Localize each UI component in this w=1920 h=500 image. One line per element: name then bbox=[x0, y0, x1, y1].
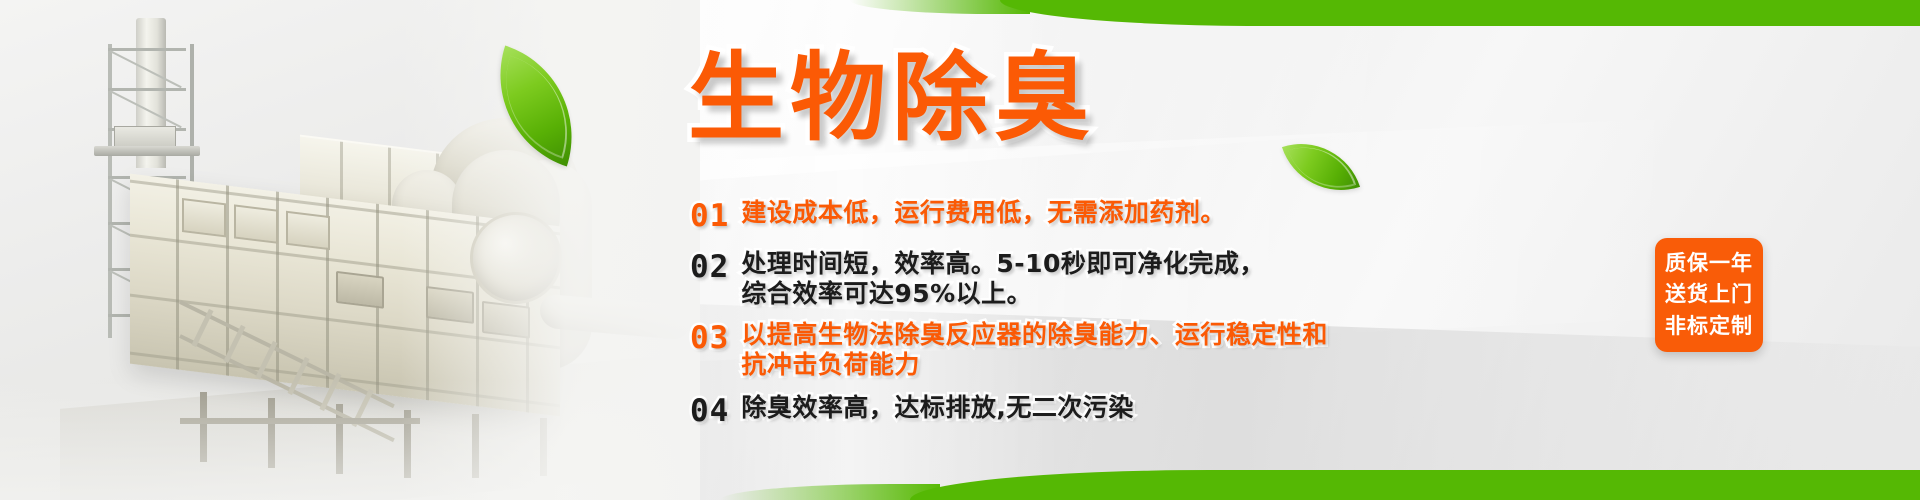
tower-rung bbox=[108, 48, 186, 51]
badge-line-warranty: 质保一年 bbox=[1665, 248, 1753, 279]
badge-line-delivery: 送货上门 bbox=[1665, 279, 1753, 310]
feature-text-line2: 抗冲击负荷能力 bbox=[741, 350, 1328, 381]
tank-rib bbox=[176, 179, 179, 369]
badge-line-custom: 非标定制 bbox=[1665, 311, 1753, 342]
feature-number: 04 bbox=[690, 393, 729, 430]
feature-text: 处理时间短，效率高。5-10秒即可净化完成， 综合效率可达95%以上。 bbox=[741, 249, 1265, 310]
feature-text: 除臭效率高，达标排放,无二次污染 bbox=[741, 393, 1134, 424]
tank-panel bbox=[182, 198, 226, 237]
promo-banner: 生物除臭 01 建设成本低，运行费用低，无需添加药剂。 02 处理时间短，效率高… bbox=[0, 0, 1920, 500]
feature-list: 01 建设成本低，运行费用低，无需添加药剂。 02 处理时间短，效率高。5-10… bbox=[690, 198, 1590, 441]
tower-platform bbox=[94, 146, 200, 156]
feature-number: 03 bbox=[690, 320, 729, 357]
tank-panel bbox=[234, 204, 278, 243]
feature-number: 02 bbox=[690, 249, 729, 286]
feature-text-line1: 以提高生物法除臭反应器的除臭能力、运行稳定性和 bbox=[741, 320, 1328, 349]
feature-text-line1: 处理时间短，效率高。5-10秒即可净化完成， bbox=[741, 249, 1265, 278]
feature-item-04: 04 除臭效率高，达标排放,无二次污染 bbox=[690, 393, 1590, 430]
tank-panel bbox=[286, 211, 330, 250]
guarantee-badge: 质保一年 送货上门 非标定制 bbox=[1655, 238, 1763, 352]
tower-rung bbox=[108, 88, 186, 91]
feature-number: 01 bbox=[690, 198, 729, 235]
feature-text: 以提高生物法除臭反应器的除臭能力、运行稳定性和 抗冲击负荷能力 bbox=[741, 320, 1328, 381]
feature-item-02: 02 处理时间短，效率高。5-10秒即可净化完成， 综合效率可达95%以上。 bbox=[690, 249, 1590, 310]
feature-item-01: 01 建设成本低，运行费用低，无需添加药剂。 bbox=[690, 198, 1590, 235]
page-title: 生物除臭 bbox=[688, 50, 1096, 146]
feature-text-line1: 建设成本低，运行费用低，无需添加药剂。 bbox=[741, 198, 1226, 227]
feature-item-03: 03 以提高生物法除臭反应器的除臭能力、运行稳定性和 抗冲击负荷能力 bbox=[690, 320, 1590, 381]
feature-text-line1: 除臭效率高，达标排放,无二次污染 bbox=[741, 393, 1134, 422]
feature-text-line2: 综合效率可达95%以上。 bbox=[741, 279, 1265, 310]
feature-text: 建设成本低，运行费用低，无需添加药剂。 bbox=[741, 198, 1226, 229]
